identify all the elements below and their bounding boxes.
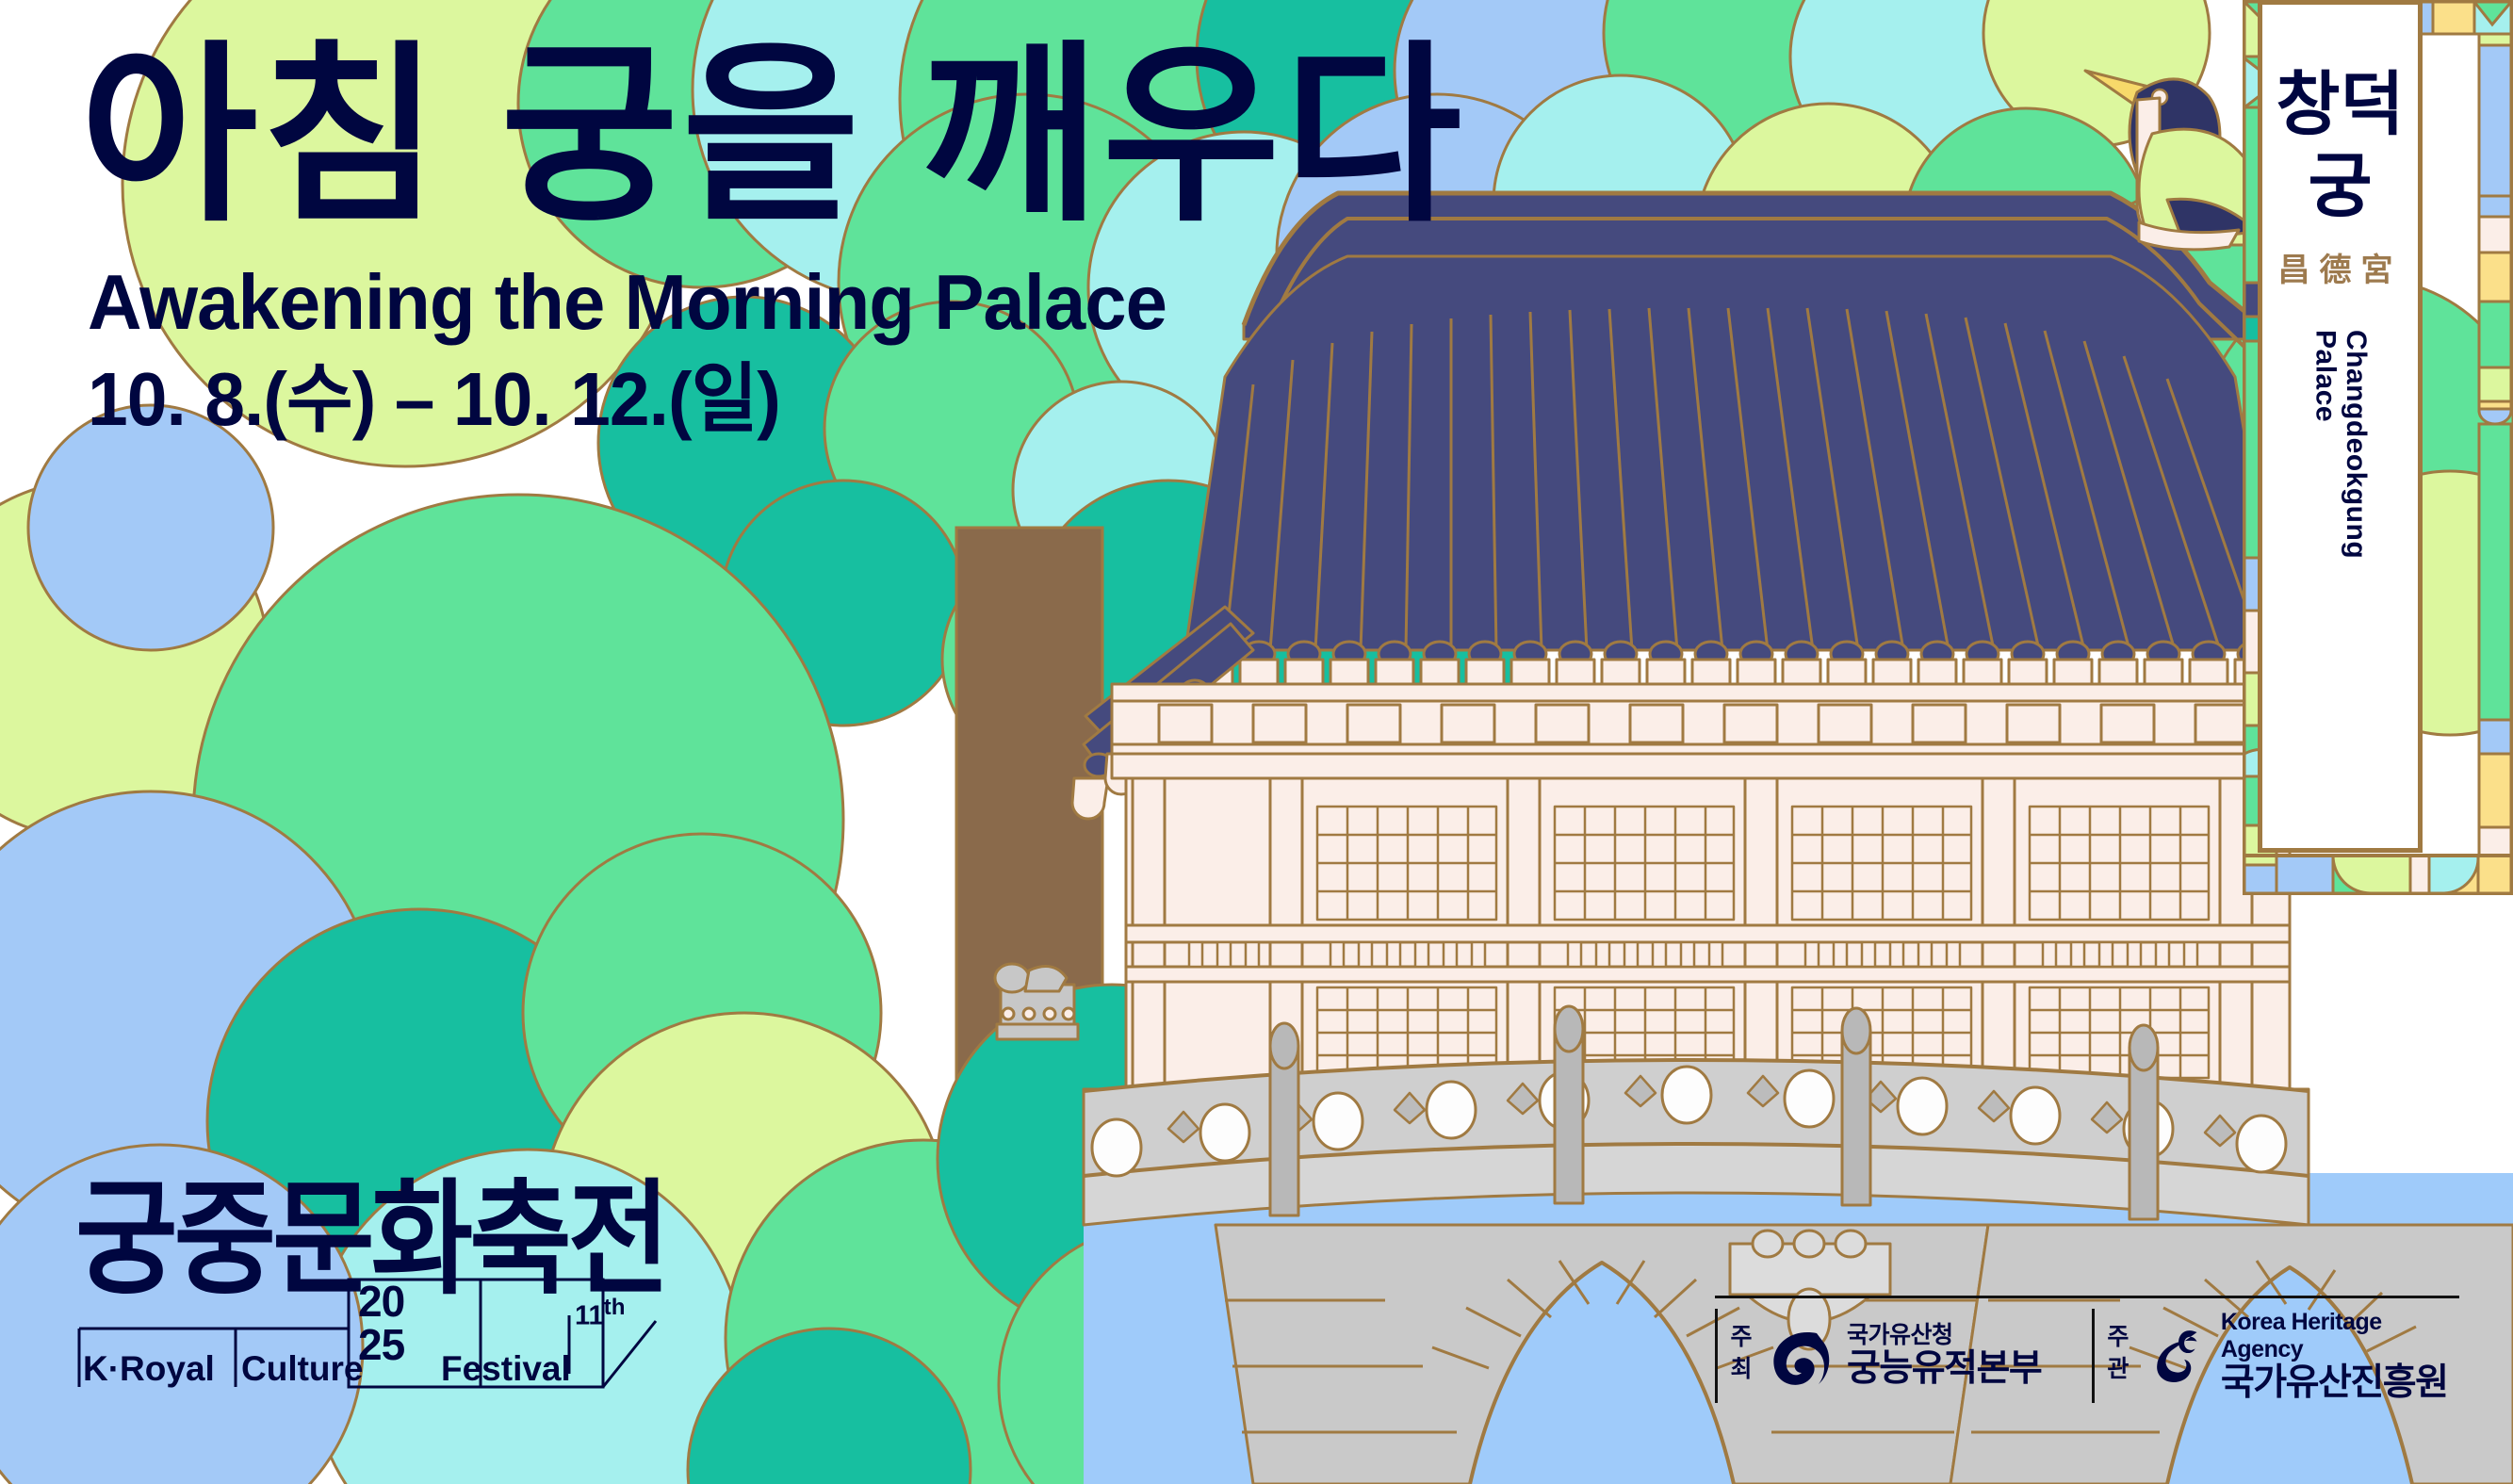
taegeuk-swirl-icon [1764,1320,1836,1392]
sponsor-organizer-text: Korea Heritage Agency 국가유산진흥원 [2221,1309,2459,1403]
sponsor-host-rule [1715,1309,1718,1403]
venue-name-korean: 창덕궁 [2262,63,2418,228]
festival-tag-festival: Festival [441,1351,571,1386]
festival-edition: 11th [575,1296,625,1330]
sponsor-organizer: 주관 Korea Heritage Agency 국가유산진흥원 [2092,1309,2459,1403]
festival-logo: 궁중문화축전 K·Royal Culture 20 25 Festival [75,1178,754,1387]
sponsor-host-line1: 국가유산청 [1847,1322,2041,1349]
page-title-english: Awakening the Morning Palace [88,263,1411,341]
sponsor-organizer-line2: 국가유산진흥원 [2221,1363,2459,1404]
venue-name-english: Changdeokgung Palace [2309,330,2371,612]
festival-edition-number: 11 [575,1301,604,1331]
festival-logo-lockup: K·Royal Culture 20 25 Festival 11th [75,1329,754,1387]
festival-year-top: 20 [358,1280,404,1323]
sponsor-divider [1715,1296,2459,1298]
poster-canvas: 아침 궁을 깨우다 Awakening the Morning Palace 1… [0,0,2513,1484]
sponsor-organizer-tag: 주관 [2104,1324,2128,1388]
sponsor-host-line2: 궁능유적본부 [1847,1349,2041,1390]
festival-year-bottom: 25 [358,1323,404,1366]
event-date-range: 10. 8.(수) – 10. 12.(일) [88,362,1411,437]
headline-block: 아침 궁을 깨우다 Awakening the Morning Palace 1… [80,38,1465,437]
venue-banner: 창덕궁 昌德宮 Changdeokgung Palace [2258,0,2423,853]
sponsor-host-text: 국가유산청 궁능유적본부 [1847,1322,2041,1390]
page-title-korean: 아침 궁을 깨우다 [80,38,1465,235]
festival-year: 20 25 [358,1280,404,1366]
sponsor-organizer-line1: Korea Heritage Agency [2221,1309,2459,1363]
festival-tag-kroyal: K·Royal [83,1351,215,1386]
sponsor-organizer-rule [2092,1309,2095,1403]
festival-tag-culture: Culture [241,1351,364,1386]
sponsor-host-tag: 주최 [1727,1324,1751,1388]
haetae-statue-icon [995,964,1078,1039]
kha-swirl-icon [2141,1320,2210,1392]
venue-name-hanja: 昌德宮 [2278,254,2403,286]
festival-edition-suffix: th [604,1295,626,1320]
sponsor-block: 주최 국가유산청 궁능유적본부 주관 Korea Heritage Agency… [1715,1296,2459,1423]
sponsor-host: 주최 국가유산청 궁능유적본부 [1715,1309,2041,1403]
palace-bracket-band [1112,684,2290,778]
